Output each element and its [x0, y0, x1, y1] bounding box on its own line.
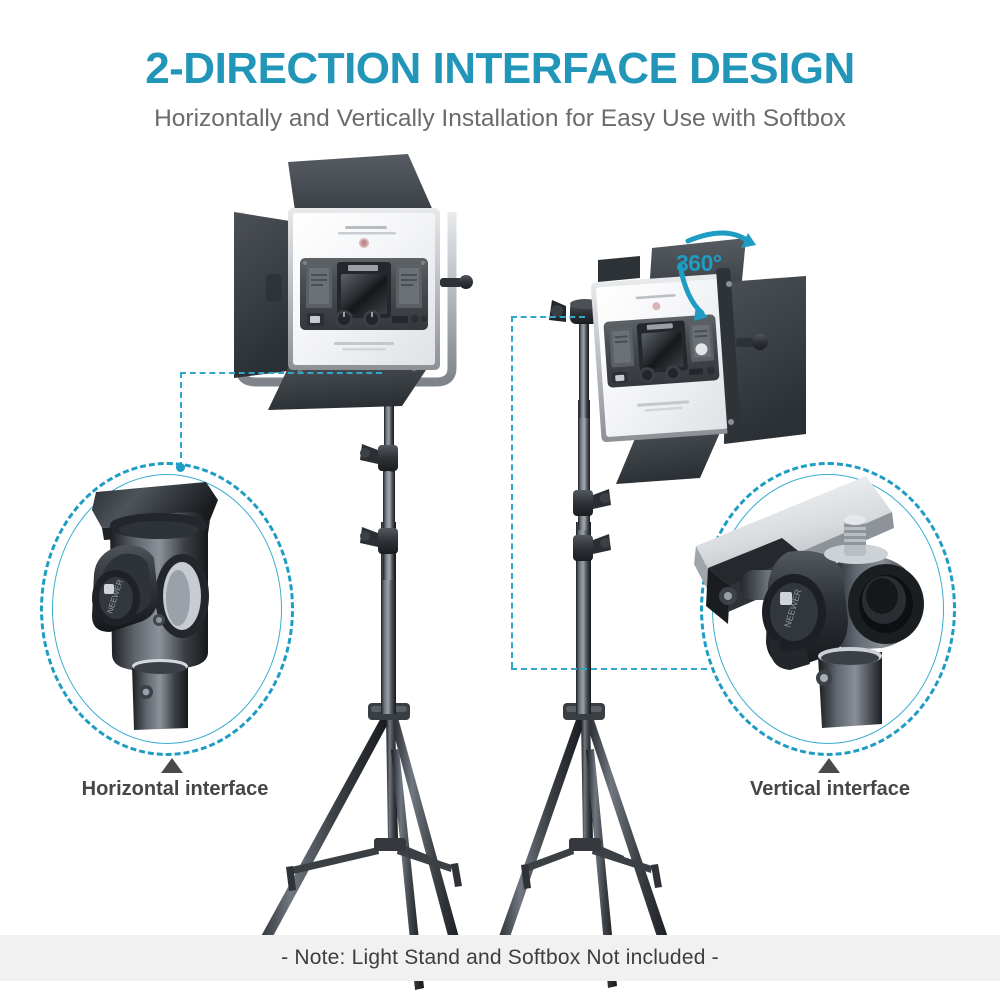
barn-door-bottom [268, 364, 430, 410]
stand-collar-lock [360, 527, 398, 554]
left-callout-pointer-icon [161, 758, 183, 773]
light-stand-mount-bracket-icon: NEEWER [58, 476, 278, 742]
left-panel-control-module [300, 258, 428, 330]
left-connector-horizontal [180, 372, 382, 374]
left-connector-vertical [180, 372, 182, 468]
right-connector-vertical [511, 316, 513, 668]
light-stand-swivel-adapter-icon: NEEWER [706, 472, 950, 744]
right-connector-top [511, 316, 585, 318]
left-tripod-stand [248, 382, 465, 990]
barn-door-left [234, 212, 296, 378]
left-callout-label: Horizontal interface [0, 778, 350, 801]
rotation-arrow-icon [640, 225, 780, 335]
footer-note-text: - Note: Light Stand and Softbox Not incl… [281, 946, 719, 970]
stand-collar-lock [573, 489, 611, 516]
page-subtitle: Horizontally and Vertically Installation… [0, 106, 1000, 133]
left-panel-pivot-knob [266, 274, 282, 302]
stand-collar-lock [360, 444, 398, 471]
stand-collar-lock [573, 534, 611, 561]
page-title: 2-DIRECTION INTERFACE DESIGN [0, 47, 1000, 91]
right-connector-bottom [511, 668, 707, 670]
footer-note-bar: - Note: Light Stand and Softbox Not incl… [0, 935, 1000, 981]
rotation-badge: 360° [676, 250, 722, 277]
left-led-panel-icon [288, 208, 473, 370]
illustration-stage: 360° [0, 150, 1000, 940]
right-callout-label: Vertical interface [660, 778, 1000, 801]
infographic-page: 2-DIRECTION INTERFACE DESIGN Horizontall… [0, 0, 1000, 1000]
header: 2-DIRECTION INTERFACE DESIGN Horizontall… [0, 0, 1000, 133]
right-callout-pointer-icon [818, 758, 840, 773]
